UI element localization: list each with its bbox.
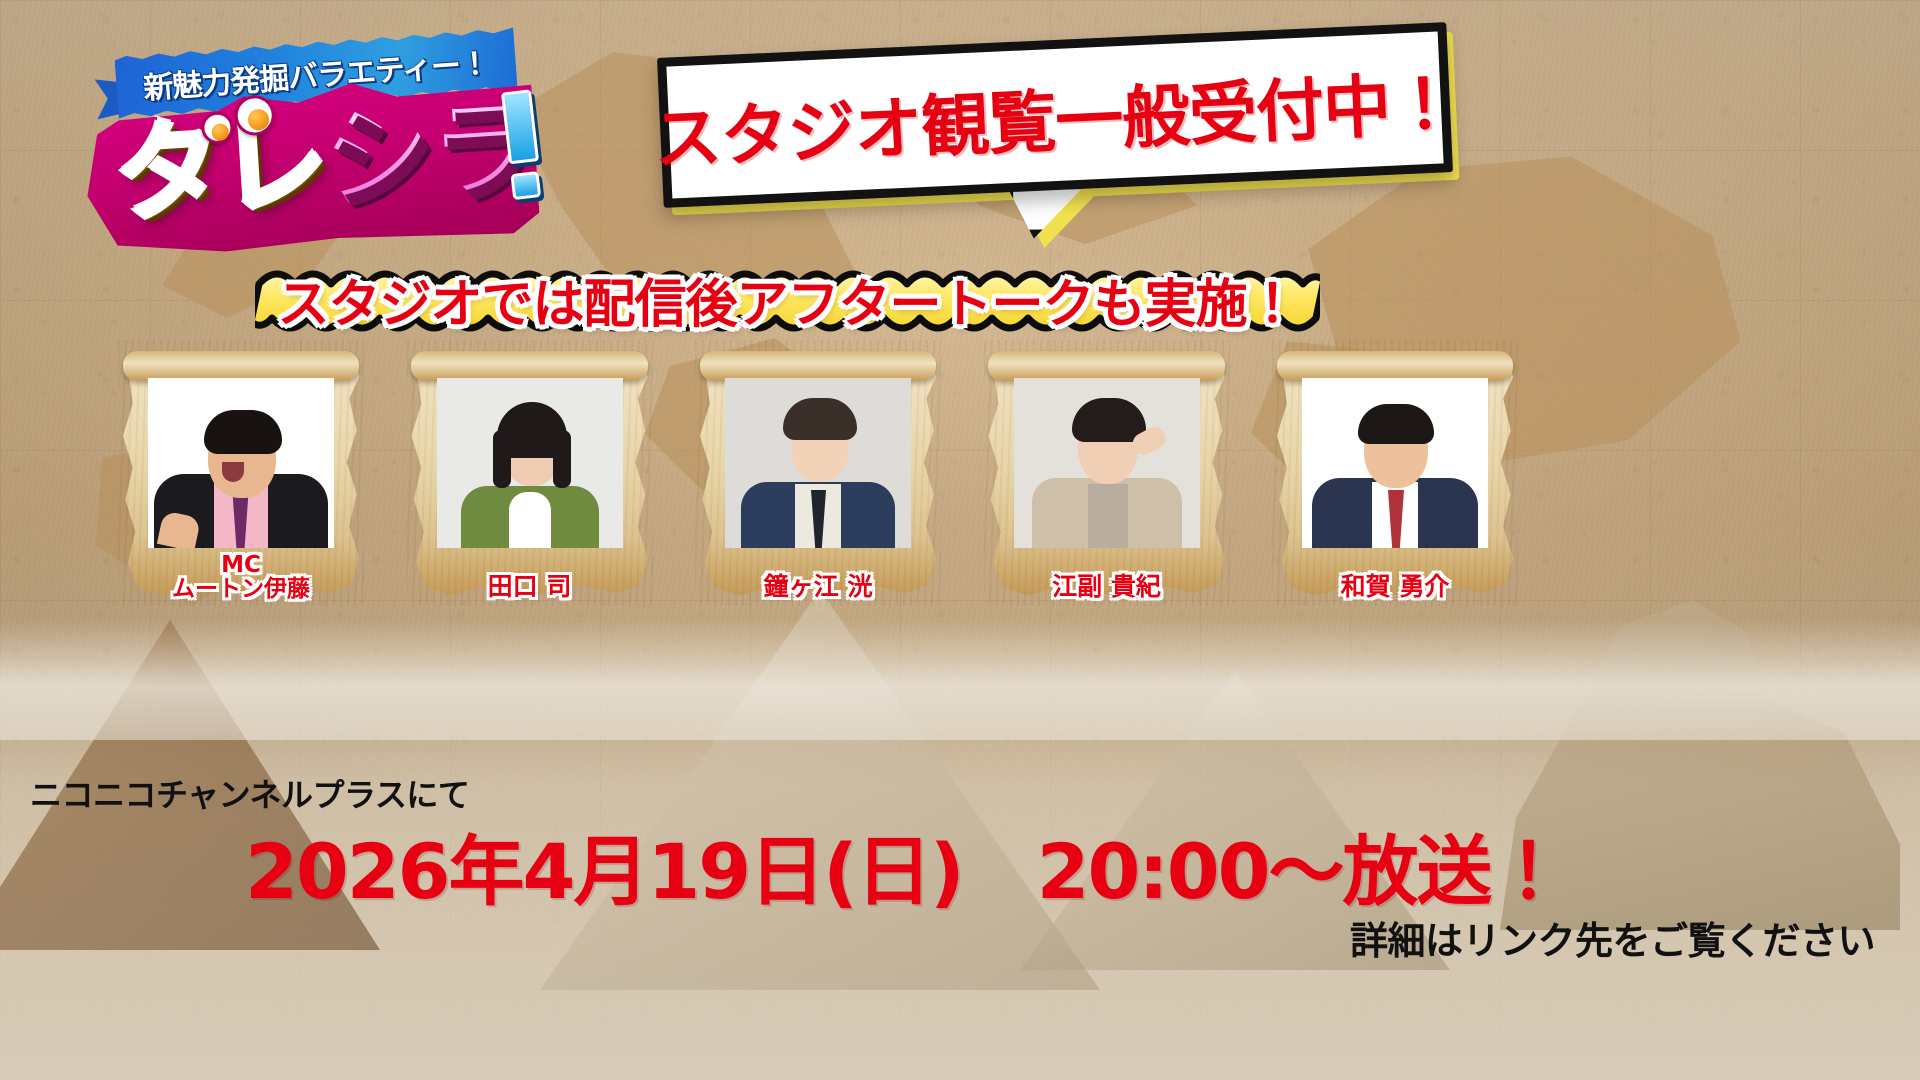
- cast-photo-0: [148, 378, 334, 548]
- broadcast-info: ニコニコチャンネルプラスにて 2026年4月19日(日) 20:00～放送！ 詳…: [0, 770, 1920, 1020]
- logo-char-shi: シ: [323, 107, 433, 213]
- detail-note: 詳細はリンク先をご覧ください: [1350, 910, 1875, 965]
- cast-card-0[interactable]: MC ムートン伊藤: [118, 340, 364, 606]
- cast-card-2[interactable]: 鐘ヶ江 洸: [695, 340, 941, 606]
- callout-text: スタジオ観覧一般受付中！: [651, 47, 1459, 182]
- cast-name-1: 田口 司: [407, 574, 653, 600]
- background-haze: [0, 620, 1920, 740]
- logo-title-text: タ レ シ ラ: [111, 101, 528, 226]
- scroll-roll: [700, 351, 936, 381]
- logo-title-group: タレシラ タ レ シ ラ: [81, 72, 540, 260]
- broadcast-datetime: 2026年4月19日(日) 20:00～放送！: [245, 810, 1565, 920]
- cast-photo-2: [725, 378, 911, 548]
- cast-name-3: 江副 貴紀: [984, 574, 1230, 600]
- cast-card-4[interactable]: 和賀 勇介: [1272, 340, 1518, 606]
- show-logo: 新魅力発掘バラエティー！ タレシラ タ レ シ ラ: [80, 34, 540, 249]
- cast-list: MC ムートン伊藤 田口 司: [118, 340, 1518, 610]
- logo-eye-right: [233, 94, 275, 136]
- cast-photo-1: [437, 378, 623, 548]
- scroll-roll: [988, 351, 1224, 381]
- cast-card-3[interactable]: 江副 貴紀: [984, 340, 1230, 606]
- cast-photo-3: [1014, 378, 1200, 548]
- cast-name-4: 和賀 勇介: [1272, 574, 1518, 600]
- scroll-roll: [411, 351, 647, 381]
- scroll-roll: [123, 351, 359, 381]
- promo-banner: 新魅力発掘バラエティー！ タレシラ タ レ シ ラ: [0, 0, 1920, 1080]
- logo-eyes-icon: [200, 94, 287, 145]
- cast-card-1[interactable]: 田口 司: [407, 340, 653, 606]
- logo-eye-left: [200, 111, 234, 145]
- cast-photo-4: [1302, 378, 1488, 548]
- after-talk-ribbon: スタジオでは配信後アフタートークも実施！: [255, 258, 1320, 340]
- ribbon-text: スタジオでは配信後アフタートークも実施！: [255, 258, 1320, 340]
- scroll-roll: [1277, 351, 1513, 381]
- cast-name-0: MC ムートン伊藤: [118, 554, 364, 602]
- cast-name-2: 鐘ヶ江 洸: [695, 574, 941, 600]
